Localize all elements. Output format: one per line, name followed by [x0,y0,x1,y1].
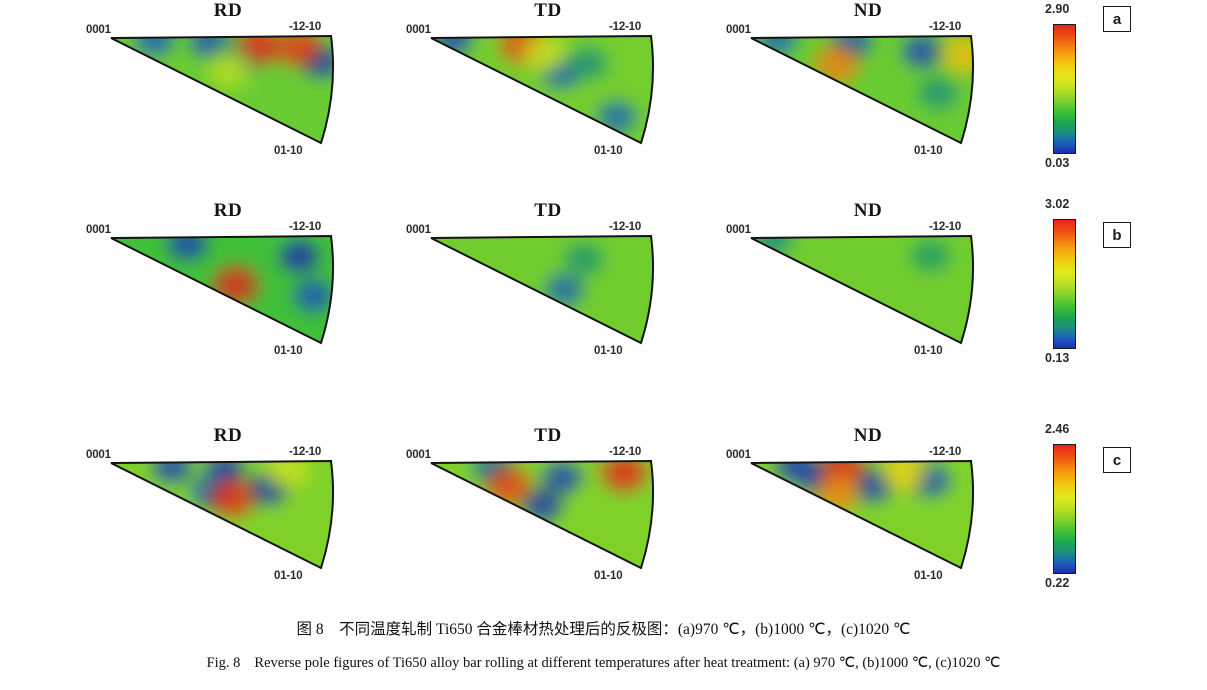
caption-english: Fig. 8Reverse pole figures of Ti650 allo… [0,655,1207,672]
corner-label-01-10: 01-10 [914,570,942,582]
corner-label-0001: 0001 [726,24,751,36]
corner-label-0001: 0001 [726,449,751,461]
corner-label-12-10: -12-10 [929,446,961,458]
ipf-panel-a-td: TD0001-12-1001-10 [398,0,698,190]
corner-label-12-10: -12-10 [289,221,321,233]
ipf-panel-b-rd: RD0001-12-1001-10 [78,200,378,390]
inverse-pole-figure-triangle [398,0,698,190]
ipf-panel-b-nd: ND0001-12-1001-10 [718,200,1018,390]
corner-label-01-10: 01-10 [274,570,302,582]
panel-tag-c: c [1103,447,1131,473]
colorbar-b: 3.020.13 [1035,195,1095,385]
ipf-panel-c-td: TD0001-12-1001-10 [398,425,698,615]
colorbar-max-label: 2.46 [1045,422,1069,436]
corner-label-0001: 0001 [86,24,111,36]
corner-label-12-10: -12-10 [289,446,321,458]
colorbar-a: 2.900.03 [1035,0,1095,190]
colorbar-c: 2.460.22 [1035,420,1095,610]
corner-label-0001: 0001 [726,224,751,236]
corner-label-01-10: 01-10 [274,145,302,157]
caption-english-text: Reverse pole figures of Ti650 alloy bar … [254,655,1000,671]
corner-label-12-10: -12-10 [609,221,641,233]
corner-label-12-10: -12-10 [929,221,961,233]
corner-label-01-10: 01-10 [594,570,622,582]
inverse-pole-figure-triangle [718,200,1018,390]
corner-label-0001: 0001 [86,224,111,236]
panel-tag-b: b [1103,222,1131,248]
colorbar-max-label: 3.02 [1045,197,1069,211]
panel-tag-a: a [1103,6,1131,32]
colorbar-min-label: 0.22 [1045,576,1069,590]
inverse-pole-figure-triangle [718,0,1018,190]
colorbar-gradient [1053,444,1076,574]
inverse-pole-figure-triangle [78,0,378,190]
corner-label-0001: 0001 [406,24,431,36]
corner-label-01-10: 01-10 [914,345,942,357]
corner-label-12-10: -12-10 [289,21,321,33]
ipf-panel-a-rd: RD0001-12-1001-10 [78,0,378,190]
corner-label-01-10: 01-10 [594,145,622,157]
corner-label-01-10: 01-10 [914,145,942,157]
inverse-pole-figure-triangle [398,425,698,615]
ipf-panel-c-rd: RD0001-12-1001-10 [78,425,378,615]
corner-label-0001: 0001 [406,449,431,461]
ipf-panel-a-nd: ND0001-12-1001-10 [718,0,1018,190]
colorbar-min-label: 0.13 [1045,351,1069,365]
colorbar-gradient [1053,24,1076,154]
corner-label-0001: 0001 [406,224,431,236]
ipf-panel-c-nd: ND0001-12-1001-10 [718,425,1018,615]
colorbar-gradient [1053,219,1076,349]
figure-panel-grid: RD0001-12-1001-10TD0001-12-1001-10ND0001… [0,0,1207,612]
corner-label-0001: 0001 [86,449,111,461]
inverse-pole-figure-triangle [718,425,1018,615]
corner-label-01-10: 01-10 [594,345,622,357]
colorbar-max-label: 2.90 [1045,2,1069,16]
caption-chinese: 图 8 不同温度轧制 Ti650 合金棒材热处理后的反极图：(a)970 ℃，(… [0,617,1207,639]
corner-label-12-10: -12-10 [929,21,961,33]
corner-label-12-10: -12-10 [609,21,641,33]
inverse-pole-figure-triangle [398,200,698,390]
corner-label-12-10: -12-10 [609,446,641,458]
inverse-pole-figure-triangle [78,200,378,390]
ipf-panel-b-td: TD0001-12-1001-10 [398,200,698,390]
inverse-pole-figure-triangle [78,425,378,615]
caption-english-label: Fig. 8 [207,655,241,671]
corner-label-01-10: 01-10 [274,345,302,357]
colorbar-min-label: 0.03 [1045,156,1069,170]
